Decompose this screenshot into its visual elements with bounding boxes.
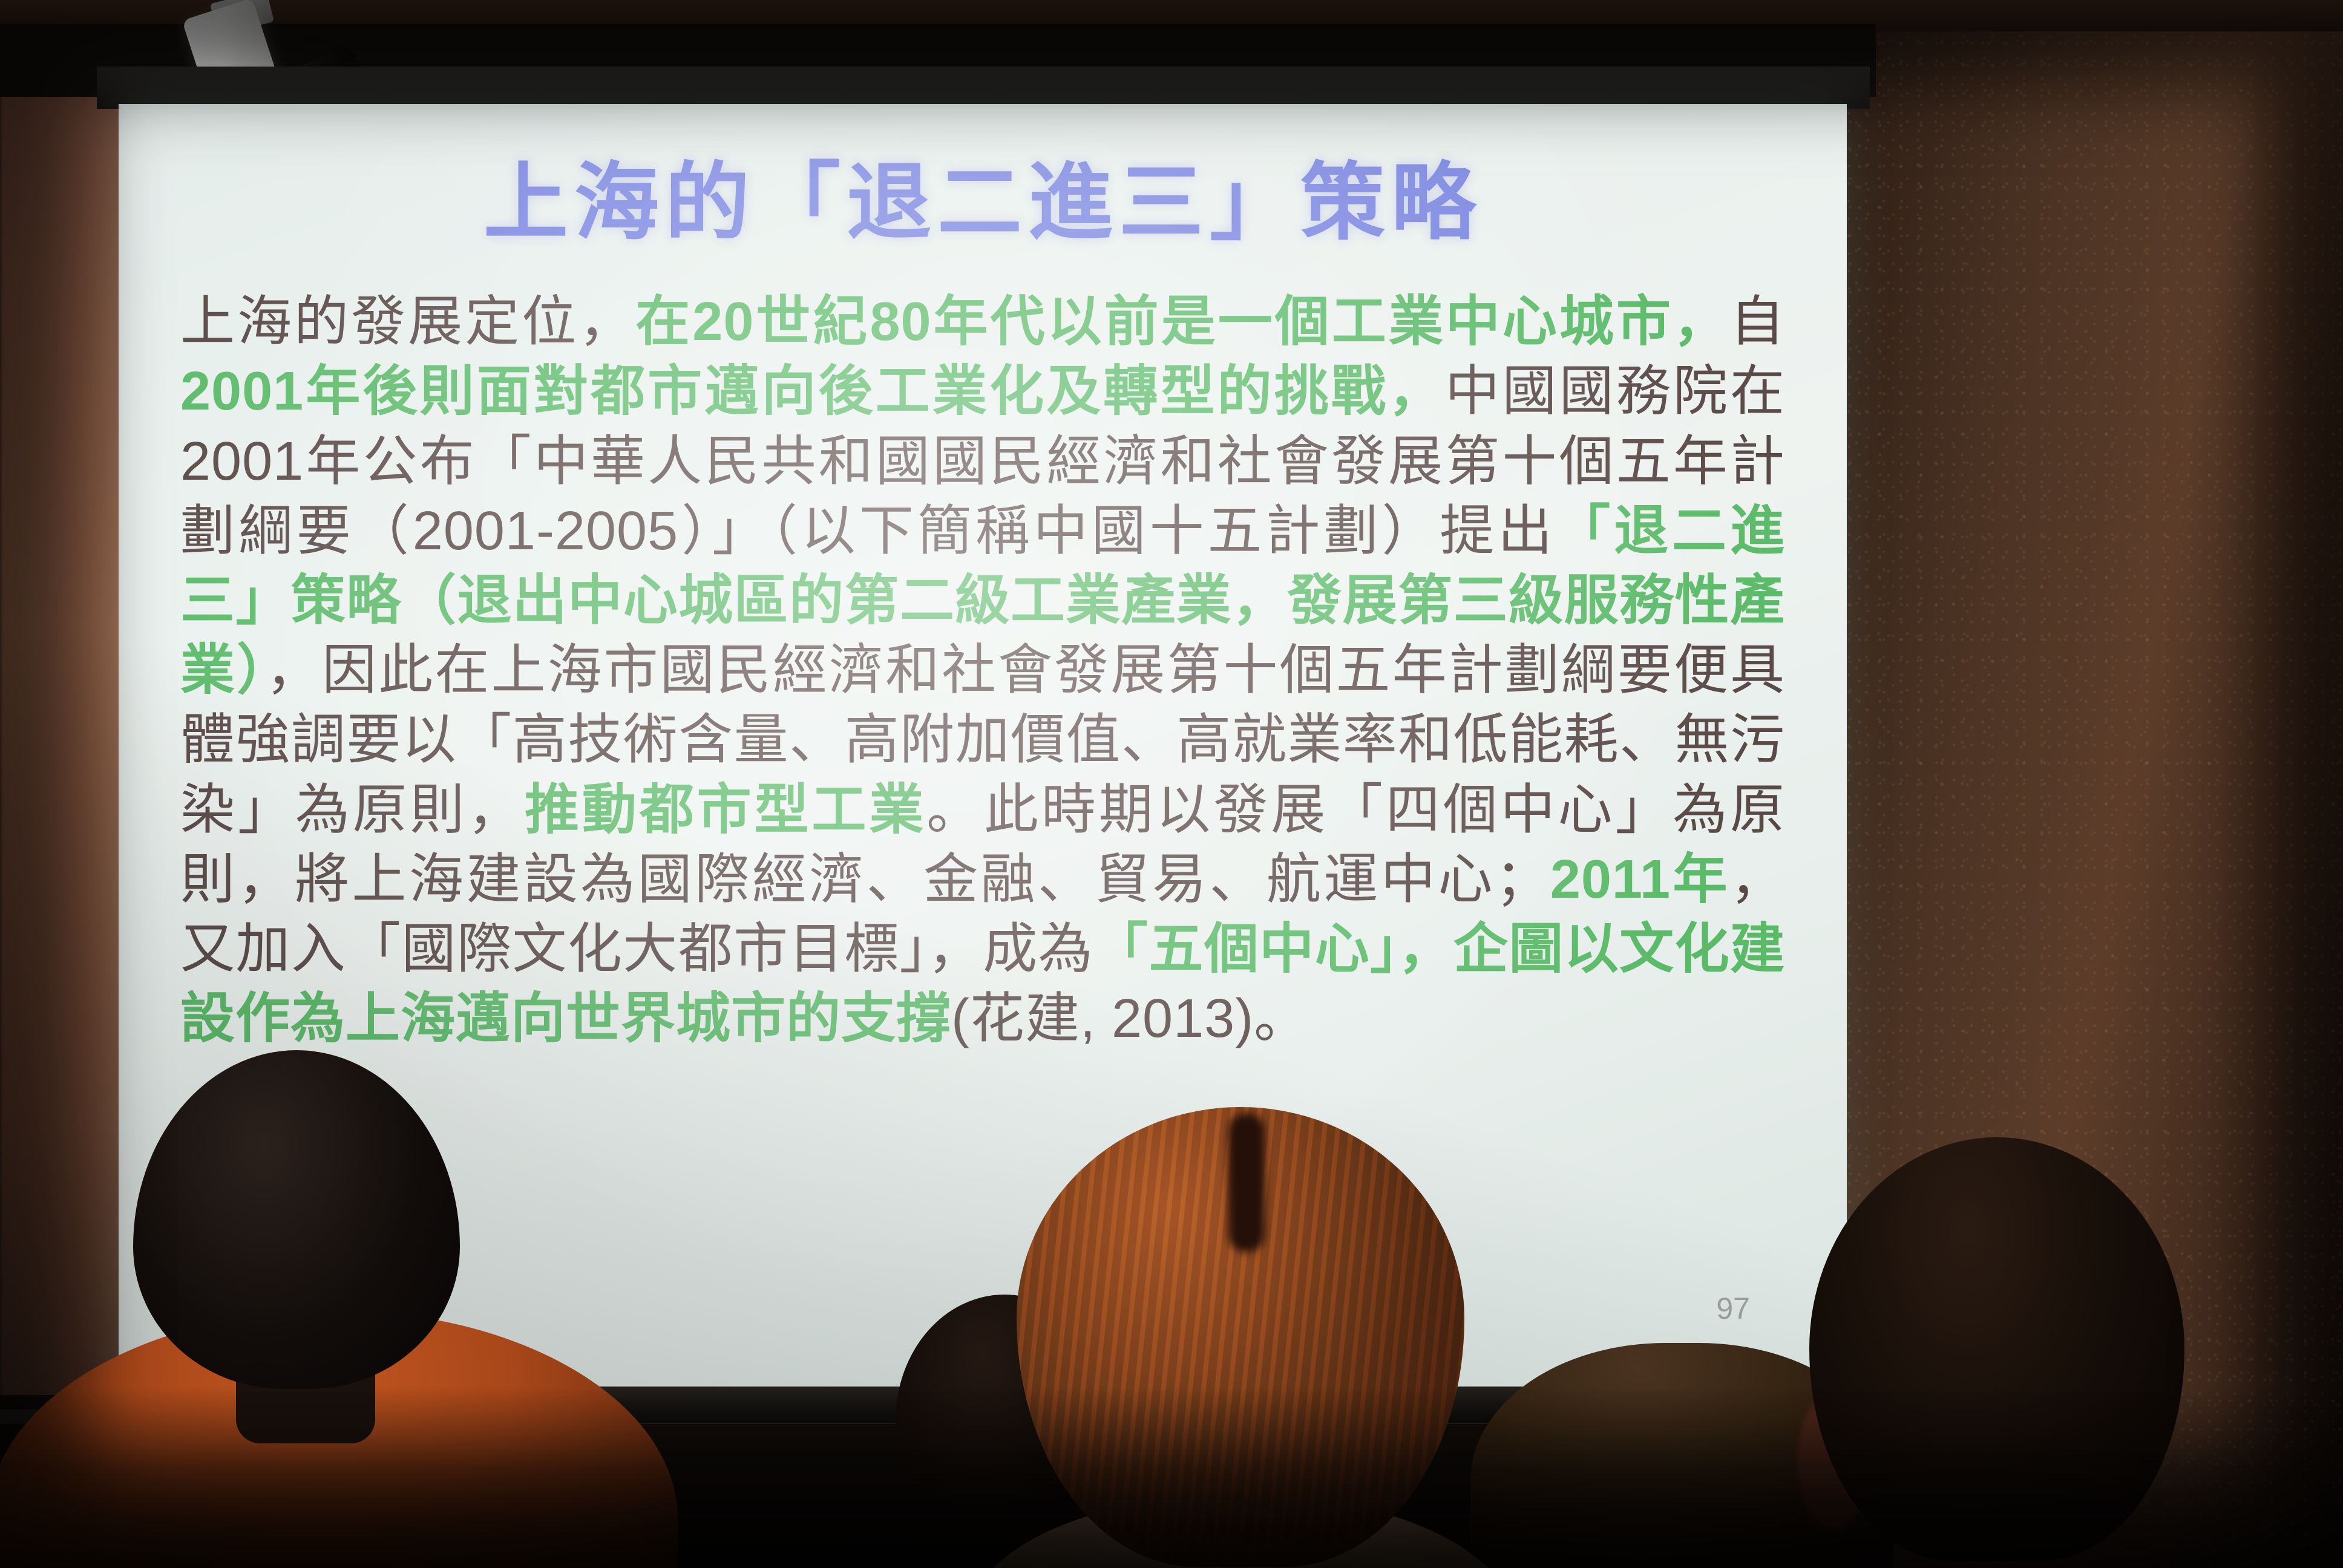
slide-page-number: 97	[1716, 1291, 1750, 1326]
run-2: 自	[1730, 292, 1785, 352]
right-attendee-head	[1809, 1137, 2184, 1561]
lecture-room: 上海的「退二進三」策略 上海的發展定位，在20世紀80年代以前是一個工業中心城市…	[0, 0, 2343, 1568]
center-attendee	[944, 1107, 1525, 1568]
run-9: 2011年	[1550, 849, 1730, 910]
slide-paragraph: 上海的發展定位，在20世紀80年代以前是一個工業中心城市，自2001年後則面對都…	[180, 287, 1785, 1054]
run-1: 在20世紀80年代以前是一個工業中心城市，	[635, 292, 1730, 352]
screen-frame-top	[97, 67, 1870, 109]
right-attendee	[1773, 1137, 2209, 1568]
run-12: (花建, 2013)。	[951, 988, 1309, 1049]
center-attendee-hair-part	[1228, 1113, 1265, 1252]
run-3: 2001年後則面對都市邁向後工業化及轉型的挑戰，	[180, 361, 1445, 422]
run-7: 推動都市型工業	[525, 780, 926, 840]
left-attendee-head	[133, 1050, 460, 1389]
run-0: 上海的發展定位，	[180, 292, 635, 352]
slide-body-text: 上海的發展定位，在20世紀80年代以前是一個工業中心城市，自2001年後則面對都…	[171, 287, 1795, 1054]
slide-title: 上海的「退二進三」策略	[171, 152, 1795, 252]
left-attendee	[109, 1050, 557, 1568]
